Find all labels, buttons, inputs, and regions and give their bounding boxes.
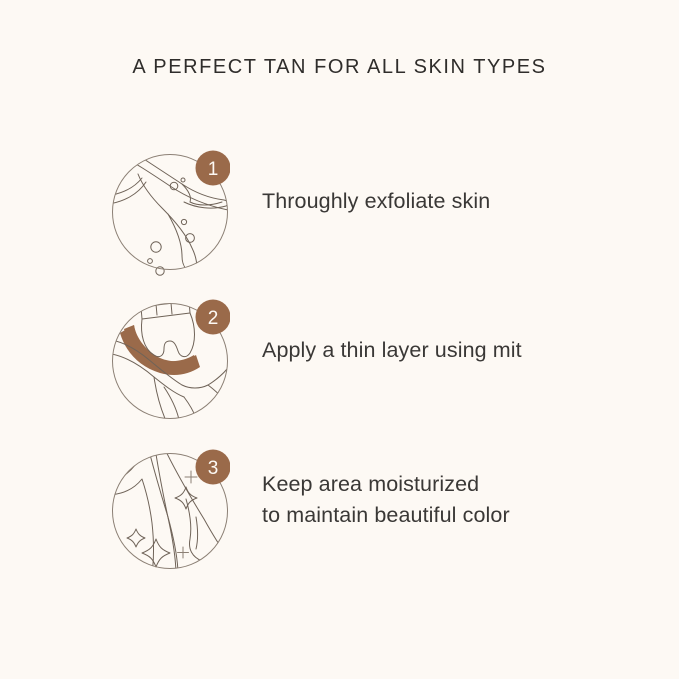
infographic-page: A PERFECT TAN FOR ALL SKIN TYPES xyxy=(0,0,679,679)
step-number-badge xyxy=(196,450,231,485)
step-description-line-1: Throughly exfoliate skin xyxy=(262,186,662,217)
steps-list: 1 Throughly exfoliate skin xyxy=(0,0,679,679)
step-number-badge xyxy=(196,300,231,335)
step-description-line-1: Keep area moisturized xyxy=(262,469,662,500)
step-row: 2 Apply a thin layer using mit xyxy=(0,284,679,434)
step-description: Keep area moisturized to maintain beauti… xyxy=(262,434,662,566)
step-icon-container: 2 xyxy=(112,293,230,425)
step-row: 3 Keep area moisturized to maintain beau… xyxy=(0,434,679,584)
legs-sparkles-moisturized-icon xyxy=(112,443,230,575)
step-description: Throughly exfoliate skin xyxy=(262,135,662,267)
step-row: 1 Throughly exfoliate skin xyxy=(0,135,679,285)
step-icon-container: 1 xyxy=(112,144,230,276)
legs-exfoliate-bubbles-icon xyxy=(112,144,230,276)
step-icon-container: 3 xyxy=(112,443,230,575)
step-description-line-2: to maintain beautiful color xyxy=(262,500,662,531)
tanning-mitt-on-leg-icon xyxy=(112,293,230,425)
step-description: Apply a thin layer using mit xyxy=(262,284,662,416)
step-description-line-1: Apply a thin layer using mit xyxy=(262,335,662,366)
step-number-badge xyxy=(196,151,231,186)
